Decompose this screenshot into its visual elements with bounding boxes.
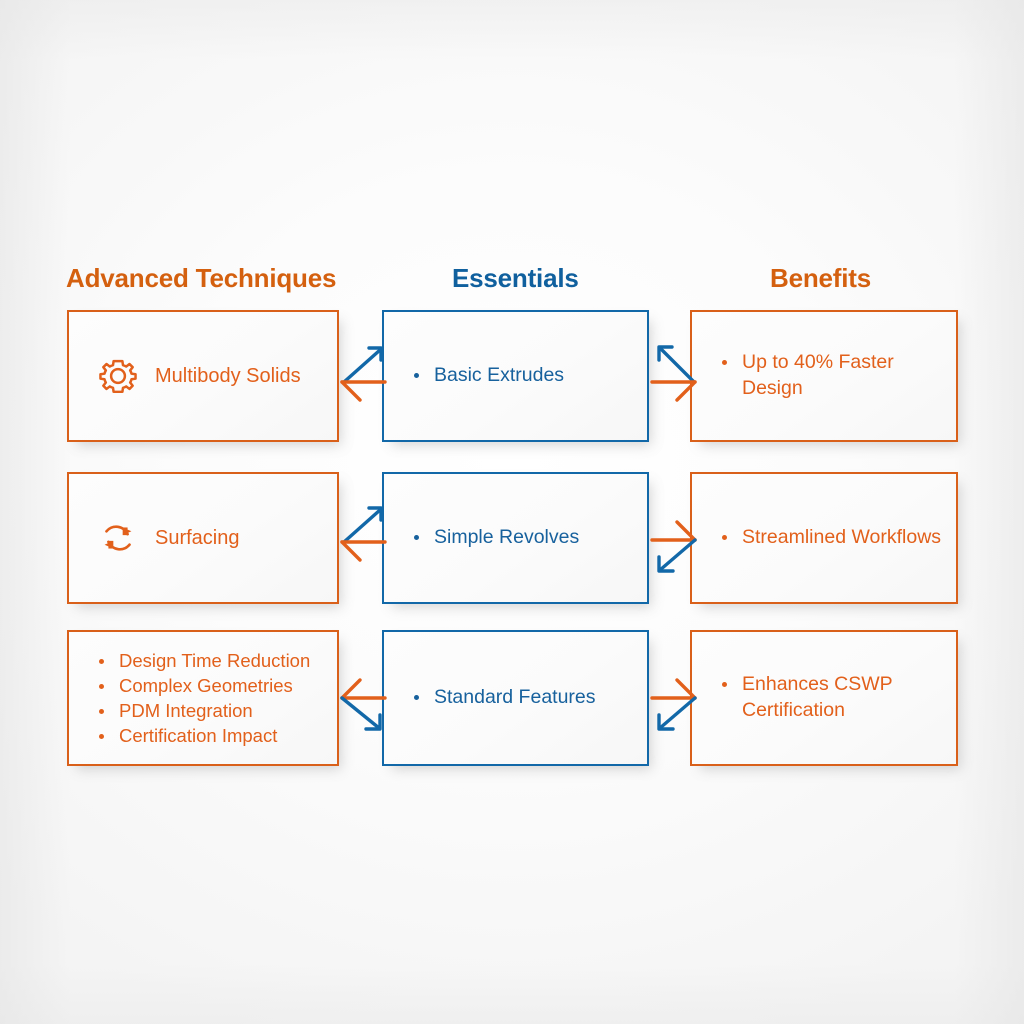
box-content: Simple Revolves (384, 524, 647, 552)
arrow-row3-left (336, 658, 388, 740)
box-content: Enhances CSWP Certification (692, 671, 956, 725)
refresh-cycle-icon (95, 515, 141, 561)
box-content: Surfacing (69, 515, 337, 561)
bullet-list: Streamlined Workflows (718, 524, 942, 550)
box-benefits-streamlined-workflows[interactable]: Streamlined Workflows (690, 472, 958, 604)
box-label: Multibody Solids (155, 365, 301, 388)
box-benefits-faster-design[interactable]: Up to 40% Faster Design (690, 310, 958, 442)
arrow-row2-right (650, 500, 702, 582)
list-item: Enhances CSWP Certification (718, 671, 942, 723)
box-benefits-cswp-certification[interactable]: Enhances CSWP Certification (690, 630, 958, 766)
three-column-flow-diagram: Advanced Techniques Essentials Benefits … (0, 0, 1024, 1024)
blue-arrow-down-right (342, 698, 380, 729)
icon-label-row: Multibody Solids (95, 353, 323, 399)
box-content: Up to 40% Faster Design (692, 349, 956, 403)
list-item: Standard Features (410, 684, 633, 710)
orange-arrow-right (652, 522, 695, 540)
box-label: Surfacing (155, 527, 240, 550)
arrow-row1-right (650, 334, 702, 410)
list-item: PDM Integration (95, 698, 323, 723)
blue-arrow-up-left (344, 348, 381, 382)
list-item: Complex Geometries (95, 673, 323, 698)
list-item: Design Time Reduction (95, 648, 323, 673)
blue-arrow-up-left (659, 347, 694, 382)
bullet-list: Standard Features (410, 684, 633, 710)
bullet-list: Enhances CSWP Certification (718, 671, 942, 723)
gear-icon (95, 353, 141, 399)
list-item: Streamlined Workflows (718, 524, 942, 550)
arrow-row3-right (650, 658, 702, 740)
column-header-advanced-techniques: Advanced Techniques (66, 263, 336, 294)
box-advanced-surfacing[interactable]: Surfacing (67, 472, 339, 604)
arrow-row2-left (336, 496, 388, 576)
orange-arrow-left (342, 382, 385, 400)
icon-label-row: Surfacing (95, 515, 323, 561)
bullet-list: Design Time Reduction Complex Geometries… (95, 648, 323, 748)
box-content: Streamlined Workflows (692, 524, 956, 552)
box-content: Standard Features (384, 684, 647, 712)
box-content: Basic Extrudes (384, 362, 647, 390)
box-essentials-standard-features[interactable]: Standard Features (382, 630, 649, 766)
orange-arrow-right (652, 382, 695, 400)
orange-arrow-left (342, 542, 385, 560)
box-content: Design Time Reduction Complex Geometries… (69, 648, 337, 748)
blue-arrow-down-left (659, 540, 695, 571)
box-essentials-basic-extrudes[interactable]: Basic Extrudes (382, 310, 649, 442)
list-item: Simple Revolves (410, 524, 633, 550)
box-advanced-outcomes-list[interactable]: Design Time Reduction Complex Geometries… (67, 630, 339, 766)
bullet-list: Simple Revolves (410, 524, 633, 550)
list-item: Up to 40% Faster Design (718, 349, 942, 401)
box-advanced-multibody-solids[interactable]: Multibody Solids (67, 310, 339, 442)
box-essentials-simple-revolves[interactable]: Simple Revolves (382, 472, 649, 604)
blue-arrow-down-left (659, 698, 695, 729)
column-header-benefits: Benefits (770, 263, 871, 294)
list-item: Certification Impact (95, 723, 323, 748)
bullet-list: Up to 40% Faster Design (718, 349, 942, 401)
box-content: Multibody Solids (69, 353, 337, 399)
column-header-essentials: Essentials (452, 263, 579, 294)
orange-arrow-left (342, 680, 385, 698)
arrow-row1-left (336, 336, 388, 412)
list-item: Basic Extrudes (410, 362, 633, 388)
orange-arrow-right (652, 680, 695, 698)
blue-arrow-up-left (344, 508, 381, 542)
bullet-list: Basic Extrudes (410, 362, 633, 388)
